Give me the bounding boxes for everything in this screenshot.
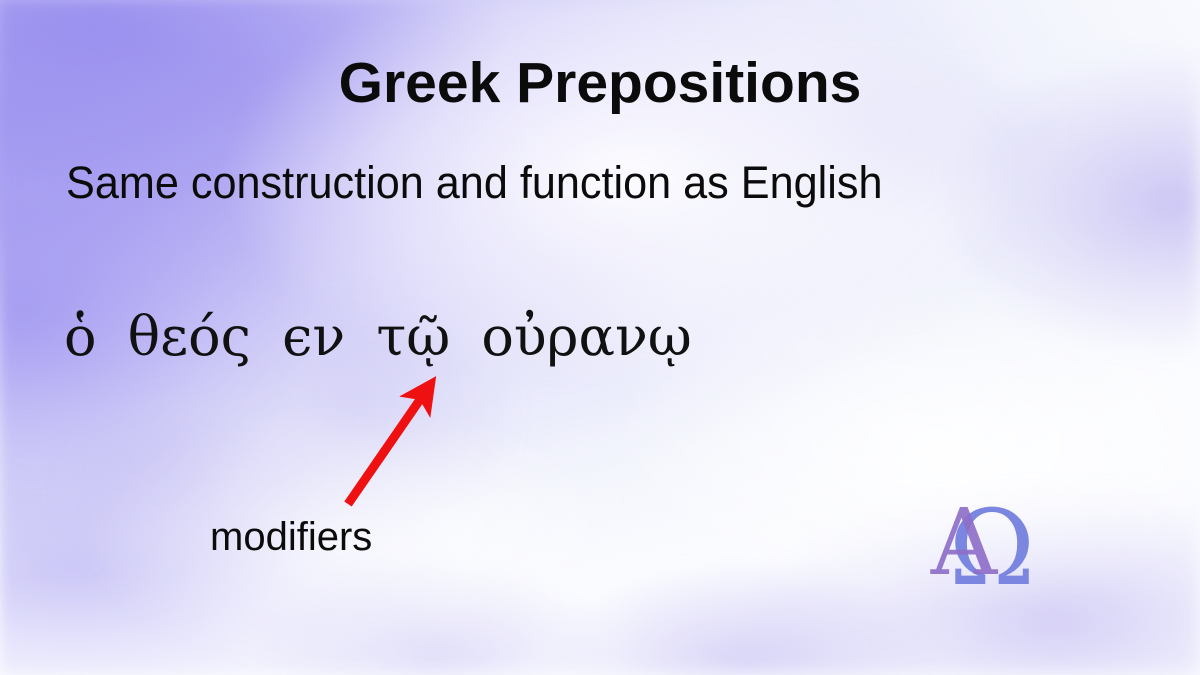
page-title: Greek Prepositions <box>0 50 1200 116</box>
greek-example-sentence: ὁ θεός ϵν τῷ οὐρανῳ <box>64 305 692 368</box>
subtitle-text: Same construction and function as Englis… <box>66 157 882 209</box>
alpha-omega-logo: Ω Α <box>918 492 1078 602</box>
modifiers-arrow-icon <box>320 365 460 525</box>
slide-content: Greek Prepositions Same construction and… <box>0 0 1200 675</box>
slide-canvas: Greek Prepositions Same construction and… <box>0 0 1200 675</box>
modifiers-annotation-label: modifiers <box>210 515 372 560</box>
alpha-glyph: Α <box>930 492 999 596</box>
